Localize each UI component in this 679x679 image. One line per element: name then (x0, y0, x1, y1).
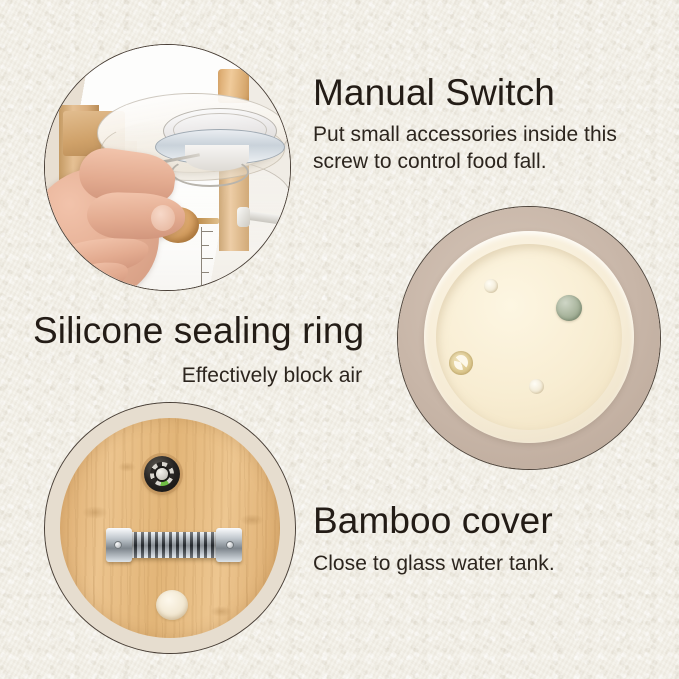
gauge-dial-icon (144, 456, 180, 492)
bamboo-grain-knot (118, 462, 136, 472)
sealing-ring-green-valve (556, 295, 582, 321)
feature-text-manual-switch: Manual Switch Put small accessories insi… (313, 74, 669, 176)
bamboo-cover-face (60, 418, 280, 638)
handle-screw-right (226, 541, 234, 549)
chrome-handle-bracket-right (216, 528, 242, 562)
silicone-bumper (156, 590, 188, 620)
product-feature-infographic: Manual Switch Put small accessories insi… (0, 0, 679, 679)
photo-manual-switch (45, 45, 290, 290)
chrome-handle (106, 528, 242, 562)
metal-spout-head (237, 207, 250, 227)
subtext-bamboo-cover: Close to glass water tank. (313, 551, 555, 578)
gauge-dial-hub (156, 468, 168, 480)
sealing-ring-face (436, 244, 622, 430)
headline-bamboo-cover: Bamboo cover (313, 502, 555, 541)
bamboo-grain-knot (240, 514, 264, 526)
sealing-ring-bumper-bottom (529, 379, 544, 394)
sealing-ring-trefoil-vent (449, 351, 473, 375)
bamboo-grain-knot (210, 606, 232, 617)
feature-text-bamboo-cover: Bamboo cover Close to glass water tank. (313, 502, 555, 578)
chrome-handle-bar (120, 532, 228, 558)
subtext-manual-switch: Put small accessories inside this screw … (313, 122, 669, 176)
chrome-handle-bracket-left (106, 528, 132, 562)
photo-bamboo-cover (45, 403, 295, 653)
headline-manual-switch: Manual Switch (313, 74, 669, 113)
handle-screw-left (114, 541, 122, 549)
fingernail (151, 205, 175, 231)
hand (45, 149, 212, 290)
headline-silicone-sealing-ring: Silicone sealing ring (33, 312, 364, 351)
subtext-silicone-sealing-ring: Effectively block air (33, 363, 364, 390)
sealing-ring-bumper-top (484, 279, 498, 293)
feature-text-silicone-sealing-ring: Silicone sealing ring Effectively block … (33, 312, 364, 390)
bamboo-grain-knot (82, 506, 108, 519)
photo-silicone-sealing-ring (398, 207, 660, 469)
